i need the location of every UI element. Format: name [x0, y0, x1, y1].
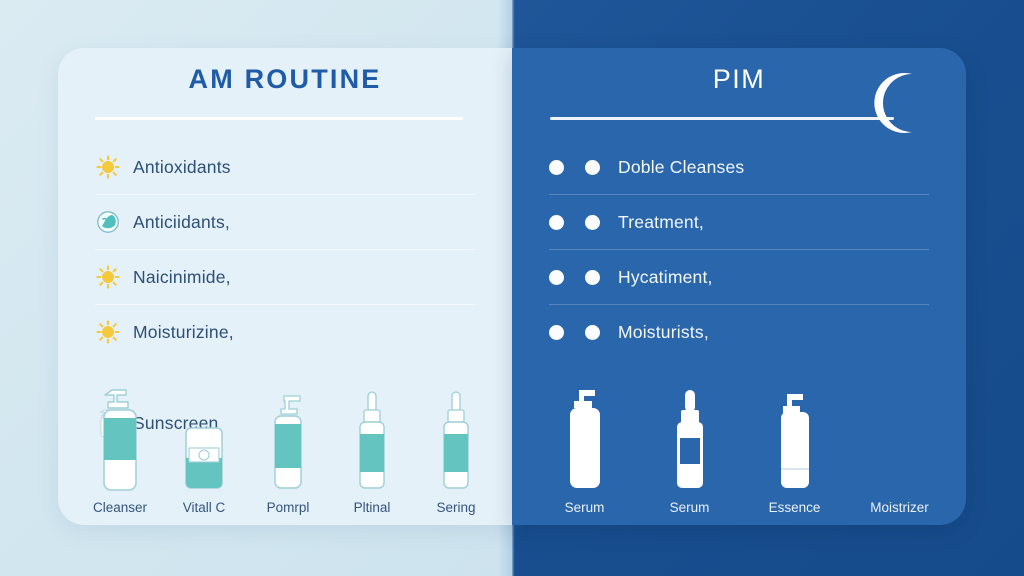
list-item-label: Treatment, — [618, 212, 704, 233]
list-item[interactable]: Naicinimide, — [95, 249, 475, 304]
skincare-routine-infographic: AM ROUTINE — [0, 0, 1024, 576]
bullet-dot — [549, 160, 564, 175]
bullet-dot — [585, 215, 600, 230]
product-label: Essence — [769, 500, 821, 515]
pm-routine-list: Doble Cleanses Treatment, Hycatiment, — [549, 140, 929, 359]
list-item-label: Naicinimide, — [133, 267, 231, 288]
list-item[interactable]: Moisturizine, — [95, 304, 475, 359]
dropper-icon — [667, 382, 713, 494]
list-item[interactable]: Anticiidants, — [95, 194, 475, 249]
list-item[interactable]: Doble Cleanses — [549, 140, 929, 194]
list-item[interactable]: Moisturists, — [549, 304, 929, 359]
product-item[interactable]: Vitall C — [162, 382, 246, 515]
product-item[interactable]: Moistrizer — [858, 382, 942, 515]
am-title-divider — [95, 117, 463, 120]
pump-bottle-icon — [92, 382, 148, 494]
list-item[interactable]: Hycatiment, — [549, 249, 929, 304]
am-routine-panel: AM ROUTINE — [58, 48, 512, 525]
crescent-moon-icon — [866, 70, 932, 136]
sun-icon — [95, 319, 121, 345]
pump-bottle-icon — [557, 382, 613, 494]
am-routine-list: Antioxidants Anticiidants, — [95, 140, 475, 359]
list-item-label: Moisturizine, — [133, 322, 234, 343]
dot-pair-icon — [549, 160, 600, 175]
dot-pair-icon — [549, 215, 600, 230]
product-item[interactable]: Essence — [753, 382, 837, 515]
product-item[interactable]: Cleanser — [78, 382, 162, 515]
product-label: Cleanser — [93, 500, 147, 515]
bullet-dot — [549, 215, 564, 230]
product-label: Pltinal — [354, 500, 391, 515]
dropper-icon — [433, 382, 479, 494]
jar-icon — [178, 382, 230, 494]
bullet-dot — [549, 325, 564, 340]
product-label: Serum — [565, 500, 605, 515]
list-item[interactable]: Treatment, — [549, 194, 929, 249]
list-item-label: Antioxidants — [133, 157, 231, 178]
pm-product-strip: Serum Serum — [532, 365, 952, 515]
list-item[interactable]: Antioxidants — [95, 140, 475, 194]
dot-pair-icon — [549, 270, 600, 285]
product-label: Vitall C — [183, 500, 226, 515]
list-item-label: Moisturists, — [618, 322, 709, 343]
am-product-strip: Cleanser Vitall C — [78, 365, 498, 515]
globe-icon — [95, 209, 121, 235]
list-item-label: Anticiidants, — [133, 212, 230, 233]
list-item-label: Doble Cleanses — [618, 157, 744, 178]
bullet-dot — [585, 325, 600, 340]
product-item[interactable]: Serum — [648, 382, 732, 515]
dropper-icon — [349, 382, 395, 494]
sun-icon — [95, 154, 121, 180]
pm-routine-panel: PIM Doble Cleanses Treatment, — [512, 48, 966, 525]
product-item[interactable]: Pltinal — [330, 382, 414, 515]
product-item[interactable]: Serum — [543, 382, 627, 515]
dot-pair-icon — [549, 325, 600, 340]
product-label: Serum — [670, 500, 710, 515]
pm-title-divider — [550, 117, 894, 120]
foam-pump-icon — [769, 382, 821, 494]
product-label: Pomrpl — [267, 500, 310, 515]
product-item[interactable]: Pomrpl — [246, 382, 330, 515]
product-label: Sering — [436, 500, 475, 515]
am-panel-title: AM ROUTINE — [58, 64, 512, 95]
foam-pump-icon — [262, 382, 314, 494]
bullet-dot — [585, 270, 600, 285]
product-label: Moistrizer — [870, 500, 929, 515]
bullet-dot — [549, 270, 564, 285]
sun-icon — [95, 264, 121, 290]
product-item[interactable]: Sering — [414, 382, 498, 515]
list-item-label: Hycatiment, — [618, 267, 713, 288]
bullet-dot — [585, 160, 600, 175]
